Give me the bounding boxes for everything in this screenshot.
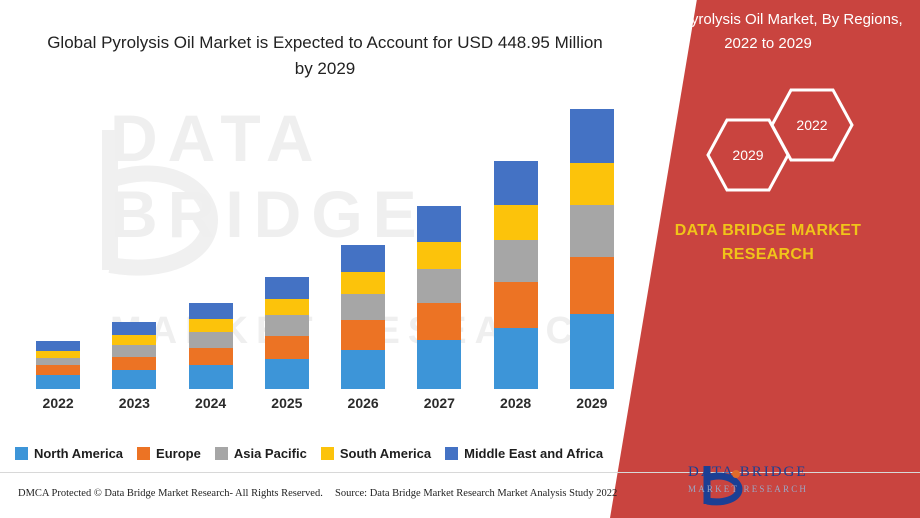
bar-column — [173, 103, 249, 389]
company-logo-subtitle: MARKET RESEARCH — [688, 484, 808, 494]
legend-item[interactable]: Europe — [137, 446, 201, 461]
stacked-bar[interactable] — [417, 206, 461, 389]
bar-segment — [341, 272, 385, 294]
hexagon-group: 2022 2029 — [688, 88, 858, 188]
hexagon-front: 2029 — [706, 118, 790, 192]
legend-item[interactable]: Asia Pacific — [215, 446, 307, 461]
bar-segment — [112, 370, 156, 389]
bar-segment — [36, 351, 80, 358]
bar-column — [478, 103, 554, 389]
x-axis-label: 2027 — [401, 395, 477, 419]
bar-segment — [494, 205, 538, 239]
infographic-page: DATA BRIDGE MARKET RESEARCH Global Pyrol… — [0, 0, 920, 518]
chart-plot-area — [20, 103, 630, 389]
bar-column — [325, 103, 401, 389]
side-panel: Global Pyrolysis Oil Market, By Regions,… — [610, 0, 920, 518]
bar-segment — [112, 335, 156, 345]
bar-segment — [341, 245, 385, 273]
legend-label: Asia Pacific — [234, 446, 307, 461]
bar-column — [20, 103, 96, 389]
bar-segment — [189, 348, 233, 366]
bar-segment — [36, 365, 80, 375]
bar-segment — [417, 242, 461, 270]
hexagon-front-label: 2029 — [706, 118, 790, 192]
stacked-bar[interactable] — [494, 161, 538, 389]
bar-segment — [494, 328, 538, 389]
bar-segment — [494, 282, 538, 328]
stacked-bar[interactable] — [112, 322, 156, 389]
brand-name-line2: RESEARCH — [630, 246, 906, 264]
bar-column — [96, 103, 172, 389]
bar-segment — [189, 365, 233, 389]
bar-segment — [112, 345, 156, 357]
bar-segment — [341, 350, 385, 389]
bar-segment — [265, 299, 309, 316]
x-axis-label: 2026 — [325, 395, 401, 419]
bar-segment — [417, 269, 461, 302]
bar-segment — [189, 319, 233, 332]
bar-segment — [265, 277, 309, 299]
footer-copyright: DMCA Protected © Data Bridge Market Rese… — [18, 488, 323, 499]
brand-name-line1: DATA BRIDGE MARKET — [630, 222, 906, 240]
bar-segment — [570, 314, 614, 389]
stacked-bar[interactable] — [265, 277, 309, 389]
bar-segment — [570, 163, 614, 205]
bar-segment — [265, 359, 309, 389]
side-panel-title: Global Pyrolysis Oil Market, By Regions,… — [628, 8, 908, 56]
bar-segment — [494, 240, 538, 282]
legend-swatch — [321, 447, 334, 460]
x-axis-label: 2028 — [478, 395, 554, 419]
legend-swatch — [15, 447, 28, 460]
bar-segment — [494, 161, 538, 205]
bar-segment — [36, 375, 80, 389]
bar-segment — [341, 320, 385, 349]
stacked-bar[interactable] — [36, 341, 80, 389]
bar-segment — [570, 205, 614, 257]
legend-item[interactable]: South America — [321, 446, 431, 461]
stacked-bar[interactable] — [189, 303, 233, 389]
bar-segment — [570, 109, 614, 163]
bar-segment — [265, 336, 309, 359]
bar-column — [249, 103, 325, 389]
bar-column — [401, 103, 477, 389]
bar-segment — [36, 358, 80, 366]
footer-source: Source: Data Bridge Market Research Mark… — [335, 488, 617, 499]
legend-swatch — [445, 447, 458, 460]
bar-segment — [189, 332, 233, 348]
page-title: Global Pyrolysis Oil Market is Expected … — [40, 30, 610, 82]
stacked-bar[interactable] — [341, 245, 385, 389]
bar-segment — [112, 357, 156, 371]
bar-column — [554, 103, 630, 389]
legend-swatch — [215, 447, 228, 460]
x-axis-label: 2023 — [96, 395, 172, 419]
chart-x-axis: 20222023202420252026202720282029 — [20, 395, 630, 419]
bar-segment — [341, 294, 385, 321]
legend-label: Europe — [156, 446, 201, 461]
bar-segment — [265, 315, 309, 336]
bar-segment — [112, 322, 156, 335]
x-axis-label: 2022 — [20, 395, 96, 419]
bar-segment — [417, 340, 461, 389]
stacked-bar[interactable] — [570, 109, 614, 389]
stacked-bar-chart: 20222023202420252026202720282029 — [20, 95, 630, 425]
legend-item[interactable]: North America — [15, 446, 123, 461]
x-axis-label: 2025 — [249, 395, 325, 419]
legend-label: Middle East and Africa — [464, 446, 603, 461]
company-logo-name: DATA BRIDGE — [688, 464, 808, 481]
bar-segment — [417, 206, 461, 241]
legend-label: South America — [340, 446, 431, 461]
bar-segment — [570, 257, 614, 314]
x-axis-label: 2024 — [173, 395, 249, 419]
x-axis-label: 2029 — [554, 395, 630, 419]
bar-segment — [417, 303, 461, 340]
legend-item[interactable]: Middle East and Africa — [445, 446, 603, 461]
bar-segment — [189, 303, 233, 320]
bar-segment — [36, 341, 80, 351]
chart-legend: North AmericaEuropeAsia PacificSouth Ame… — [0, 440, 618, 466]
legend-swatch — [137, 447, 150, 460]
legend-label: North America — [34, 446, 123, 461]
